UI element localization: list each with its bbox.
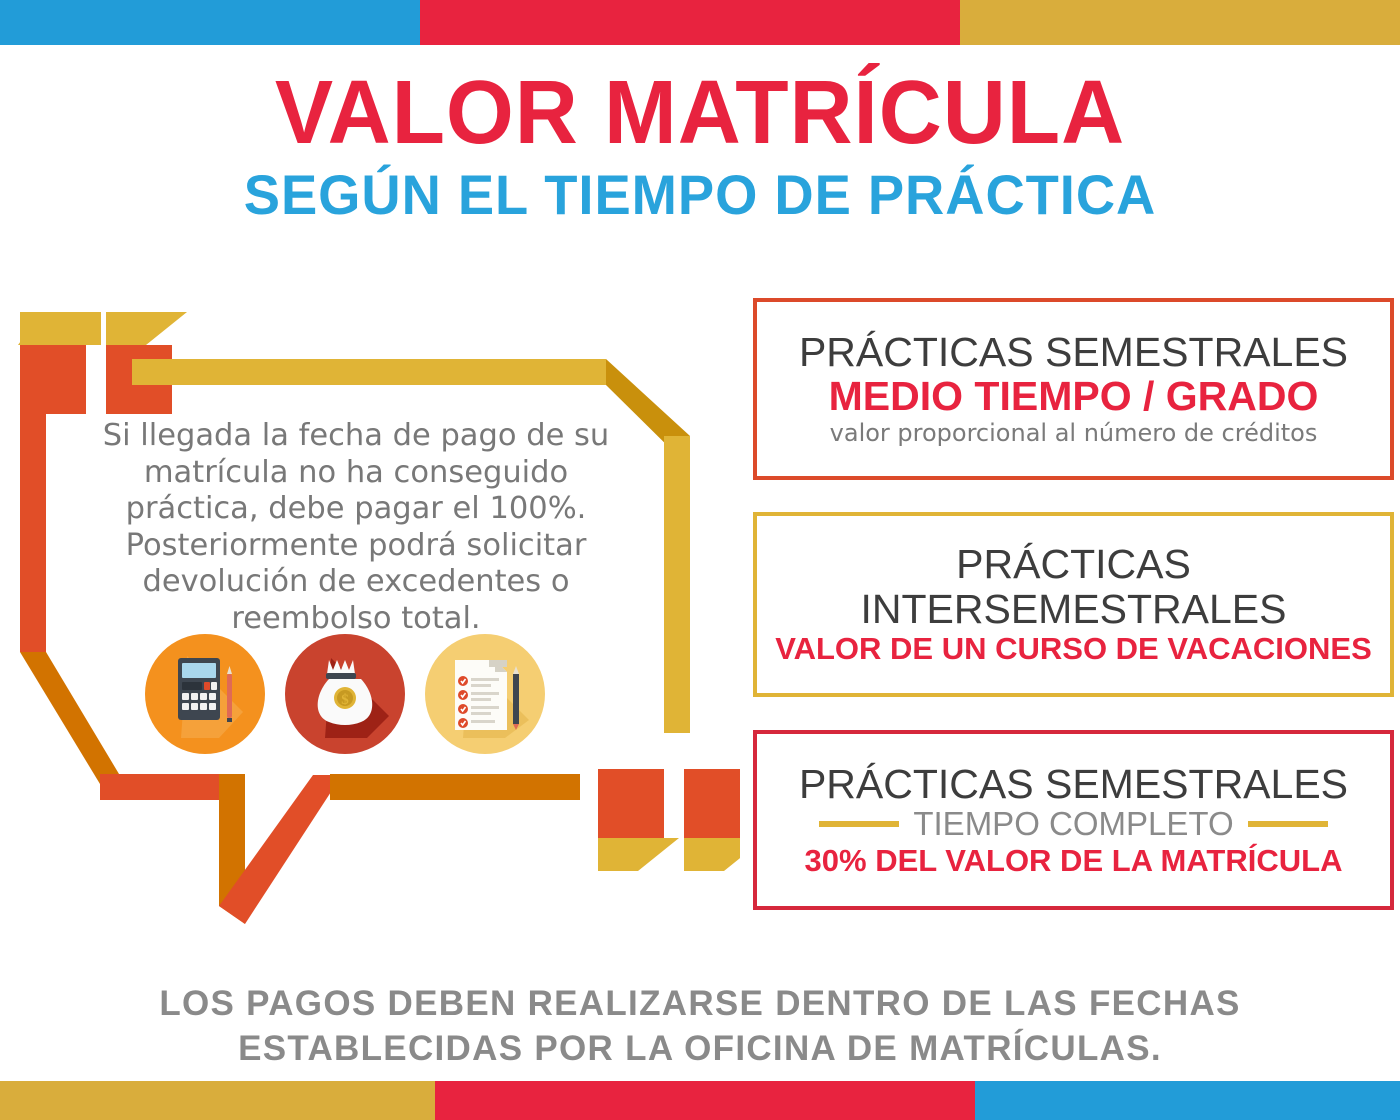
card3-line2: TIEMPO COMPLETO (913, 806, 1233, 843)
dash-right-icon (1248, 821, 1328, 827)
card3-line2-wrap: TIEMPO COMPLETO (819, 806, 1327, 843)
quote-text: Si llegada la fecha de pago de su matríc… (96, 418, 616, 638)
top-bar-segment-blue (0, 0, 420, 45)
top-bar-segment-red (420, 0, 960, 45)
footer-note: LOS PAGOS DEBEN REALIZARSE DENTRO DE LAS… (0, 982, 1400, 1072)
bottom-bar-segment-blue (975, 1081, 1400, 1120)
card2-line1: PRÁCTICAS INTERSEMESTRALES (757, 542, 1390, 631)
card-practicas-intersemestrales[interactable]: PRÁCTICAS INTERSEMESTRALES VALOR DE UN C… (753, 512, 1394, 697)
svg-text:$: $ (341, 692, 349, 708)
page-title-block: VALOR MATRÍCULA SEGÚN EL TIEMPO DE PRÁCT… (0, 68, 1400, 225)
checklist-icon (425, 634, 545, 754)
card1-line1: PRÁCTICAS SEMESTRALES (799, 330, 1348, 374)
card2-line2: VALOR DE UN CURSO DE VACACIONES (775, 631, 1372, 667)
card3-line3: 30% DEL VALOR DE LA MATRÍCULA (805, 843, 1343, 879)
money-bag-icon: $ (285, 634, 405, 754)
icon-row: $ (145, 634, 565, 758)
top-color-bar (0, 0, 1400, 45)
card-practicas-semestrales-medio-tiempo[interactable]: PRÁCTICAS SEMESTRALES MEDIO TIEMPO / GRA… (753, 298, 1394, 480)
card1-line3: valor proporcional al número de créditos (830, 419, 1318, 448)
calculator-icon (145, 634, 265, 754)
page-subtitle: SEGÚN EL TIEMPO DE PRÁCTICA (21, 166, 1379, 225)
page-title: VALOR MATRÍCULA (21, 68, 1379, 160)
closing-quote-mark-icon (598, 769, 740, 871)
card-practicas-semestrales-tiempo-completo[interactable]: PRÁCTICAS SEMESTRALES TIEMPO COMPLETO 30… (753, 730, 1394, 910)
dash-left-icon (819, 821, 899, 827)
bottom-color-bar (0, 1081, 1400, 1120)
card3-line1: PRÁCTICAS SEMESTRALES (799, 762, 1348, 806)
bottom-bar-segment-gold (0, 1081, 435, 1120)
top-bar-segment-gold (960, 0, 1400, 45)
card1-line2: MEDIO TIEMPO / GRADO (829, 374, 1319, 419)
bottom-bar-segment-red (435, 1081, 975, 1120)
